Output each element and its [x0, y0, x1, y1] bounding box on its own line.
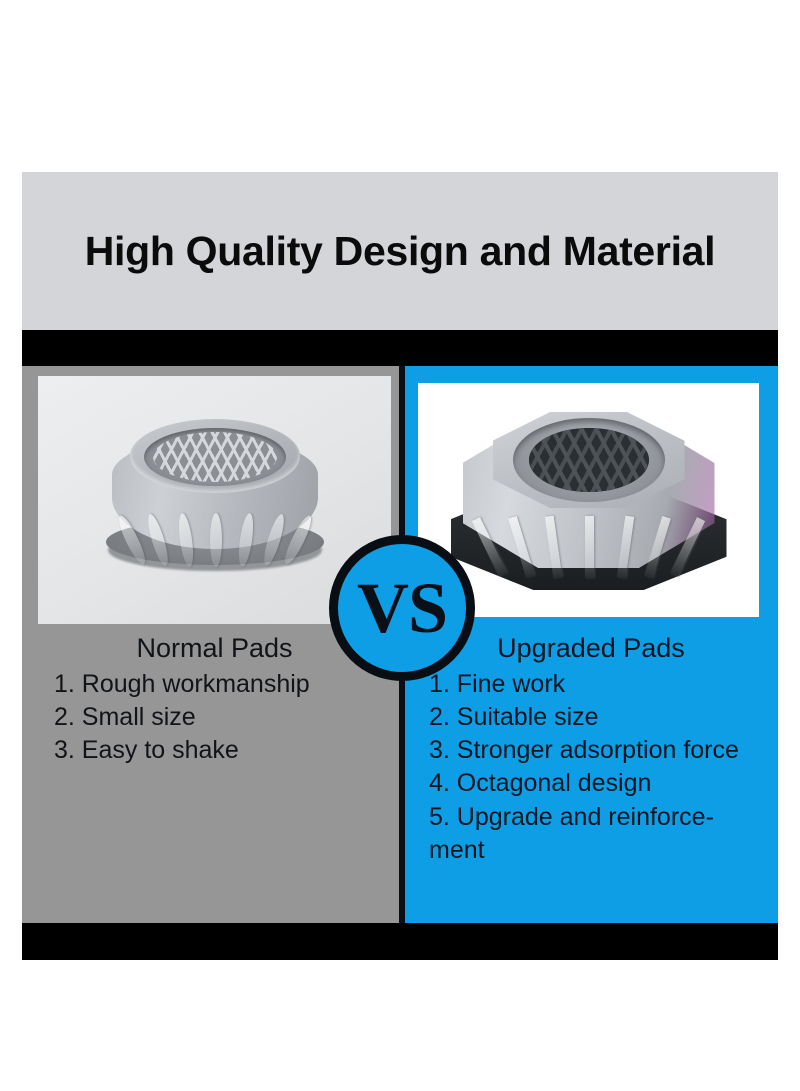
- list-item: 1. Fine work: [429, 668, 771, 701]
- round-rubber-pad-icon: [100, 411, 330, 579]
- vs-badge: VS: [329, 535, 475, 681]
- upgraded-pads-feature-list: 1. Fine work 2. Suitable size 3. Stronge…: [411, 668, 771, 868]
- list-item: 3. Easy to shake: [54, 734, 391, 767]
- page-title: High Quality Design and Material: [85, 231, 716, 272]
- list-item: 5. Upgrade and reinforce-: [429, 801, 771, 834]
- header-band: High Quality Design and Material: [22, 172, 778, 330]
- list-item: 1. Rough workmanship: [54, 668, 391, 701]
- octagonal-rubber-pad-icon: [451, 404, 727, 596]
- normal-pads-text-block: Normal Pads 1. Rough workmanship 2. Smal…: [38, 634, 391, 767]
- normal-pads-feature-list: 1. Rough workmanship 2. Small size 3. Ea…: [38, 668, 391, 768]
- list-item: 2. Suitable size: [429, 701, 771, 734]
- list-item: 3. Stronger adsorption force: [429, 734, 771, 767]
- list-item: 2. Small size: [54, 701, 391, 734]
- product-comparison-infographic: High Quality Design and Material: [22, 172, 778, 960]
- vs-badge-label: VS: [357, 572, 447, 644]
- upgraded-pads-text-block: Upgraded Pads 1. Fine work 2. Suitable s…: [411, 634, 771, 867]
- list-item: 4. Octagonal design: [429, 767, 771, 800]
- list-item: ment: [429, 834, 771, 867]
